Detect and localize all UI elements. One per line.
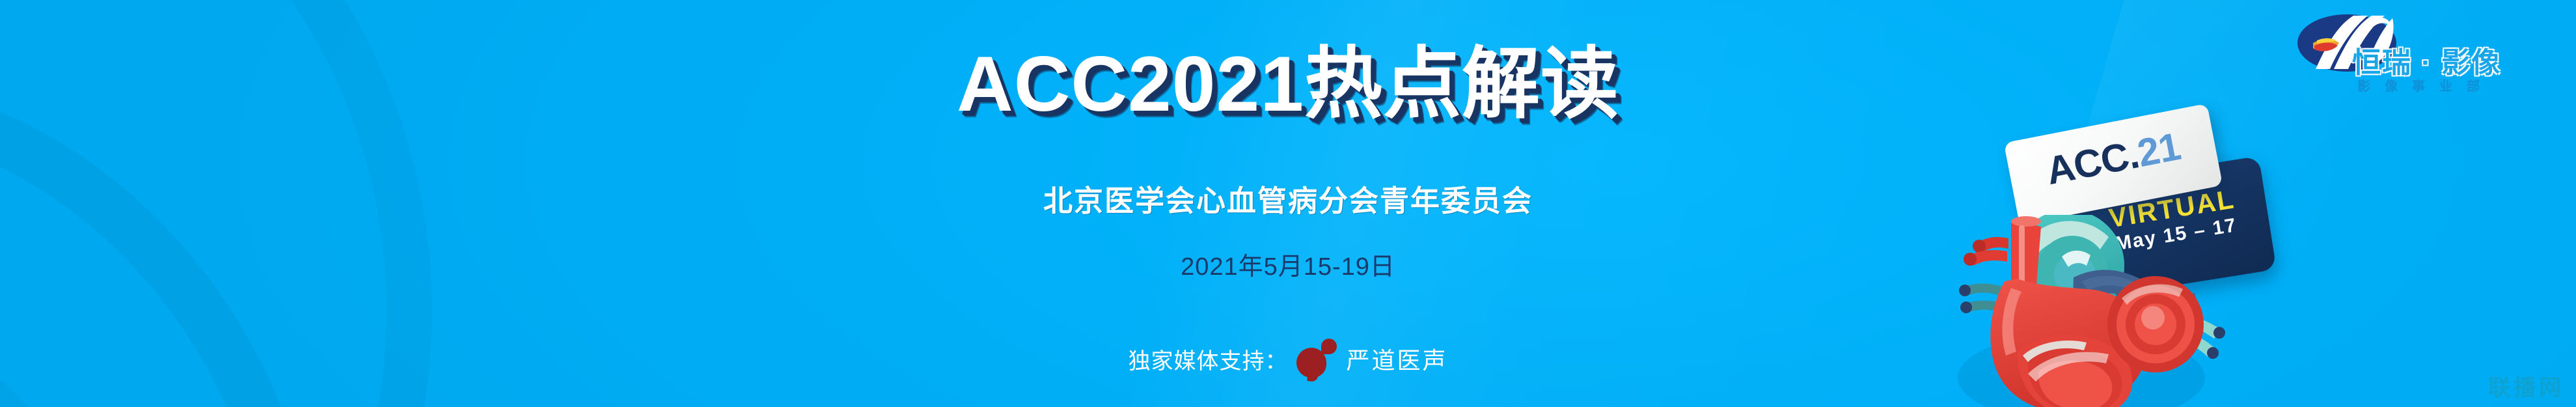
corporate-department: 影像事业部 [2357, 76, 2494, 94]
acc-year: 21 [2134, 124, 2184, 175]
speech-bubble-dot [1321, 339, 1337, 354]
corporate-name: 恒瑞 · 影像 [2352, 39, 2501, 81]
acc2021-conference-banner: ACC2021热点解读 北京医学会心血管病分会青年委员会 2021年5月15-1… [0, 0, 2576, 407]
anatomical-heart-illustration [1913, 215, 2252, 407]
media-partner-name: 严道医声 [1346, 342, 1447, 376]
corporate-logo[interactable]: 恒瑞 · 影像 影像事业部 [2297, 5, 2558, 109]
watermark-text: 联播网 [2488, 370, 2564, 402]
speech-bubble-icon [1296, 339, 1337, 379]
media-support-label: 独家媒体支持： [1128, 343, 1287, 375]
